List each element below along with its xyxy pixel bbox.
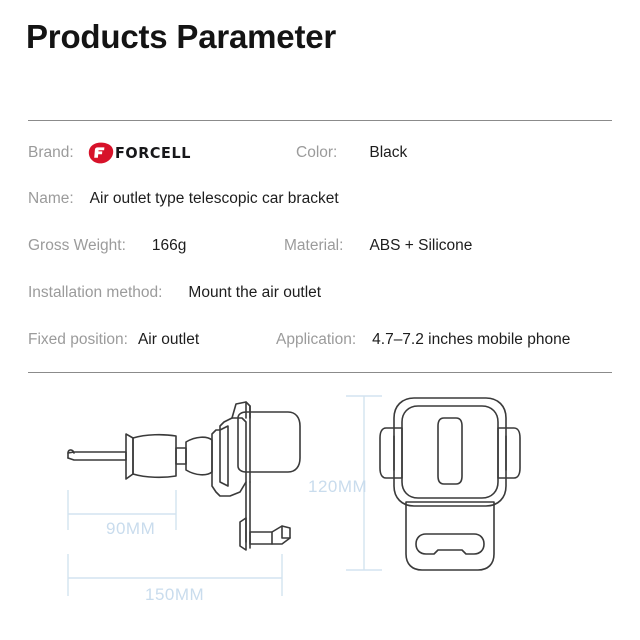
spec-row: Fixed position: Air outlet Application: … bbox=[28, 325, 628, 355]
spec-cell-material: Material: ABS + Silicone bbox=[284, 237, 472, 255]
dimension-label-90mm: 90MM bbox=[106, 519, 155, 538]
spec-value-gross-weight: 166g bbox=[152, 237, 186, 255]
spec-label-installation-method: Installation method: bbox=[28, 284, 162, 302]
side-view-drawing: 90MM 150MM bbox=[60, 382, 350, 632]
product-parameter-page: Products Parameter Brand: FORCELL Color:… bbox=[0, 0, 640, 640]
spec-value-name: Air outlet type telescopic car bracket bbox=[90, 190, 339, 208]
spec-value-installation-method: Mount the air outlet bbox=[188, 284, 321, 302]
spec-label-name: Name: bbox=[28, 190, 74, 208]
spec-label-brand: Brand: bbox=[28, 144, 74, 162]
spec-label-fixed-position: Fixed position: bbox=[28, 331, 128, 349]
dimension-label-150mm: 150MM bbox=[145, 585, 204, 604]
dimension-label-120mm-container: 120MM bbox=[308, 470, 398, 500]
spec-row: Gross Weight: 166g Material: ABS + Silic… bbox=[28, 231, 628, 261]
spec-label-color: Color: bbox=[296, 144, 337, 162]
spec-row: Installation method: Mount the air outle… bbox=[28, 278, 628, 308]
spec-value-material: ABS + Silicone bbox=[369, 237, 472, 255]
product-diagrams: 90MM 150MM bbox=[0, 382, 640, 640]
page-title: Products Parameter bbox=[26, 18, 336, 56]
dimension-label-120mm-text: 120MM bbox=[308, 477, 367, 496]
spec-label-material: Material: bbox=[284, 237, 343, 255]
forcell-logo-mark-icon bbox=[88, 142, 114, 164]
spec-cell-color: Color: Black bbox=[296, 144, 407, 162]
spec-label-application: Application: bbox=[276, 331, 356, 349]
spec-label-gross-weight: Gross Weight: bbox=[28, 237, 126, 255]
spec-table: Brand: FORCELL Color: Black Name: Air ou… bbox=[0, 120, 640, 372]
forcell-logo: FORCELL bbox=[88, 142, 194, 164]
forcell-logo-wordmark: FORCELL bbox=[115, 144, 191, 162]
spec-value-fixed-position: Air outlet bbox=[138, 331, 199, 349]
spec-value-color: Black bbox=[369, 144, 407, 162]
spec-cell-application: Application: 4.7–7.2 inches mobile phone bbox=[276, 331, 570, 349]
divider-bottom bbox=[28, 372, 612, 373]
spec-row: Name: Air outlet type telescopic car bra… bbox=[28, 184, 628, 214]
spec-row: Brand: FORCELL Color: Black bbox=[28, 138, 628, 168]
spec-value-application: 4.7–7.2 inches mobile phone bbox=[372, 331, 570, 349]
